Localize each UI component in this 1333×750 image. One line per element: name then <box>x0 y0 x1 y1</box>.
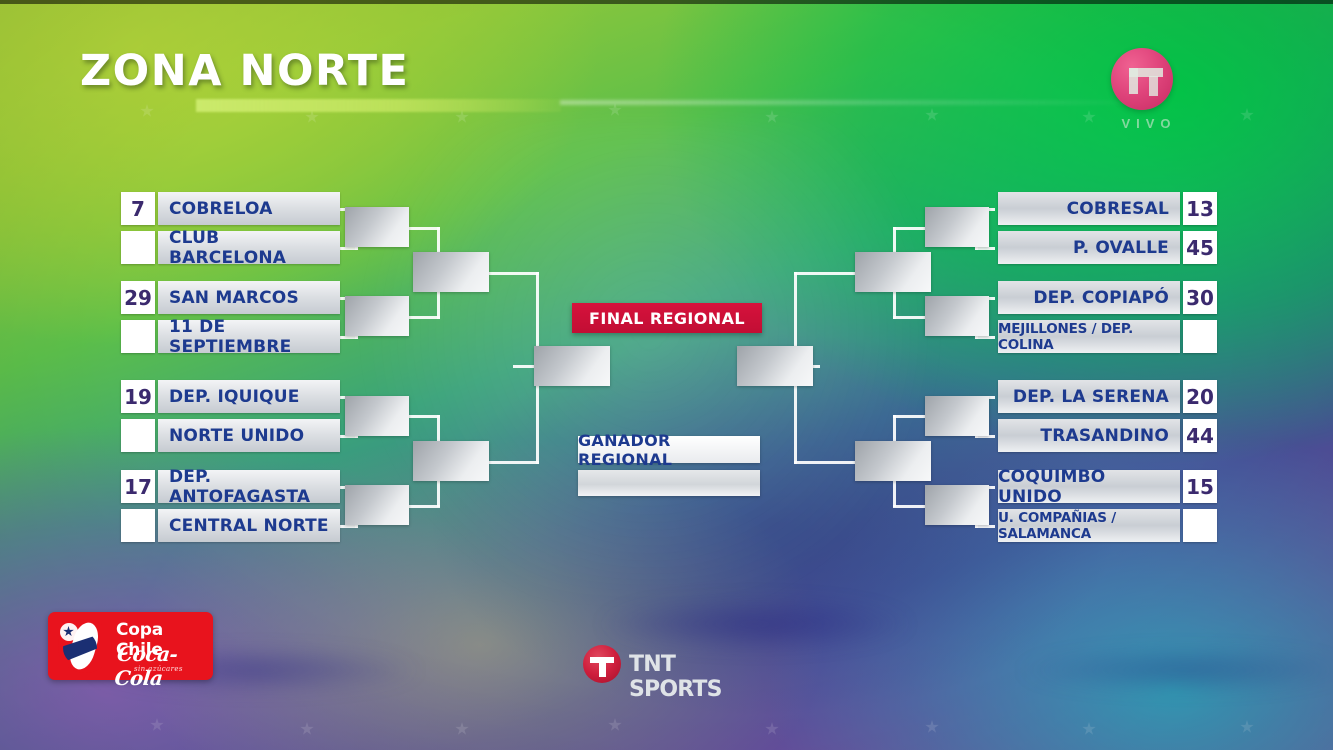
team-name: TRASANDINO <box>998 419 1180 452</box>
connector-line <box>404 415 440 418</box>
live-g-bar-right <box>1149 76 1158 96</box>
table-row[interactable]: U. COMPAÑIAS / SALAMANCA <box>998 509 1217 542</box>
team-name: COQUIMBO UNIDO <box>998 470 1180 503</box>
top-letterbox-bar <box>0 0 1333 4</box>
table-row[interactable]: NORTE UNIDO <box>121 419 340 452</box>
team-name: DEP. LA SERENA <box>998 380 1180 413</box>
team-name: MEJILLONES / DEP. COLINA <box>998 320 1180 353</box>
match-slot-right-zone-final[interactable] <box>737 346 813 386</box>
match-slot-right-qf1[interactable] <box>925 207 989 247</box>
connector-line <box>404 227 440 230</box>
seed-number: 44 <box>1183 419 1217 452</box>
match-slot-left-qf1[interactable] <box>345 207 409 247</box>
connector-line <box>893 505 929 508</box>
seed-number <box>121 231 155 264</box>
title-underline <box>196 99 561 112</box>
seed-number: 19 <box>121 380 155 413</box>
title-sweep <box>560 100 1160 105</box>
live-logo: VIVO <box>1103 48 1195 138</box>
match-slot-right-qf4[interactable] <box>925 485 989 525</box>
table-row[interactable]: CENTRAL NORTE <box>121 509 340 542</box>
match-slot-right-qf2[interactable] <box>925 296 989 336</box>
seed-number <box>121 320 155 353</box>
team-name: COBRESAL <box>998 192 1180 225</box>
match-slot-left-zone-final[interactable] <box>534 346 610 386</box>
seed-number: 30 <box>1183 281 1217 314</box>
final-regional-banner: FINAL REGIONAL <box>572 303 762 333</box>
seed-number: 15 <box>1183 470 1217 503</box>
team-name: SAN MARCOS <box>158 281 340 314</box>
live-g-bar-left <box>1129 68 1138 94</box>
connector-line <box>794 461 856 464</box>
live-circle-icon <box>1111 48 1173 110</box>
table-row[interactable]: P. OVALLE 45 <box>998 231 1217 264</box>
table-row[interactable]: TRASANDINO 44 <box>998 419 1217 452</box>
connector-line <box>404 316 440 319</box>
live-label: VIVO <box>1109 116 1189 131</box>
match-slot-left-sf1[interactable] <box>413 252 489 292</box>
team-name: DEP. IQUIQUE <box>158 380 340 413</box>
seed-number: 29 <box>121 281 155 314</box>
seed-number: 7 <box>121 192 155 225</box>
connector-line <box>794 272 856 275</box>
seed-number: 20 <box>1183 380 1217 413</box>
team-name: NORTE UNIDO <box>158 419 340 452</box>
seed-number <box>121 509 155 542</box>
table-row[interactable]: 7 COBRELOA <box>121 192 340 225</box>
table-row[interactable]: 11 DE SEPTIEMBRE <box>121 320 340 353</box>
copa-chile-logo: Copa Chile Coca-Cola sin azúcares <box>48 612 213 680</box>
match-slot-left-qf2[interactable] <box>345 296 409 336</box>
table-row[interactable]: COBRESAL 13 <box>998 192 1217 225</box>
connector-line <box>893 415 929 418</box>
team-name: CLUB BARCELONA <box>158 231 340 264</box>
winner-regional-label: GANADOR REGIONAL <box>578 436 760 463</box>
table-row[interactable]: 19 DEP. IQUIQUE <box>121 380 340 413</box>
match-slot-left-qf4[interactable] <box>345 485 409 525</box>
seed-number: 13 <box>1183 192 1217 225</box>
tnt-t-stem <box>599 657 606 677</box>
connector-line <box>893 316 929 319</box>
seed-number: 17 <box>121 470 155 503</box>
team-name: COBRELOA <box>158 192 340 225</box>
tnt-sports-wordmark: TNT SPORTS <box>629 652 763 702</box>
team-name: DEP. COPIAPÓ <box>998 281 1180 314</box>
connector-line <box>975 336 995 339</box>
seed-number <box>1183 509 1217 542</box>
copa-chile-emblem-icon <box>58 619 112 673</box>
table-row[interactable]: MEJILLONES / DEP. COLINA <box>998 320 1217 353</box>
connector-line <box>893 227 929 230</box>
seed-number <box>1183 320 1217 353</box>
table-row[interactable]: DEP. COPIAPÓ 30 <box>998 281 1217 314</box>
table-row[interactable]: CLUB BARCELONA <box>121 231 340 264</box>
table-row[interactable]: COQUIMBO UNIDO 15 <box>998 470 1217 503</box>
seed-number <box>121 419 155 452</box>
team-name: U. COMPAÑIAS / SALAMANCA <box>998 509 1180 542</box>
match-slot-left-qf3[interactable] <box>345 396 409 436</box>
team-name: 11 DE SEPTIEMBRE <box>158 320 340 353</box>
connector-line <box>975 247 995 250</box>
connector-line <box>404 505 440 508</box>
match-slot-right-sf2[interactable] <box>855 441 931 481</box>
match-slot-left-sf2[interactable] <box>413 441 489 481</box>
team-name: CENTRAL NORTE <box>158 509 340 542</box>
page-title: ZONA NORTE <box>80 46 409 96</box>
match-slot-right-sf1[interactable] <box>855 252 931 292</box>
team-name: DEP. ANTOFAGASTA <box>158 470 340 503</box>
team-name: P. OVALLE <box>998 231 1180 264</box>
table-row[interactable]: 17 DEP. ANTOFAGASTA <box>121 470 340 503</box>
winner-regional-slot[interactable] <box>578 470 760 496</box>
table-row[interactable]: DEP. LA SERENA 20 <box>998 380 1217 413</box>
match-slot-right-qf3[interactable] <box>925 396 989 436</box>
connector-line <box>975 525 995 528</box>
table-row[interactable]: 29 SAN MARCOS <box>121 281 340 314</box>
coca-cola-subtitle: sin azúcares <box>134 665 183 673</box>
broadcast-graphic: ZONA NORTE VIVO <box>0 0 1333 750</box>
seed-number: 45 <box>1183 231 1217 264</box>
tnt-sports-logo: TNT SPORTS <box>583 643 763 685</box>
